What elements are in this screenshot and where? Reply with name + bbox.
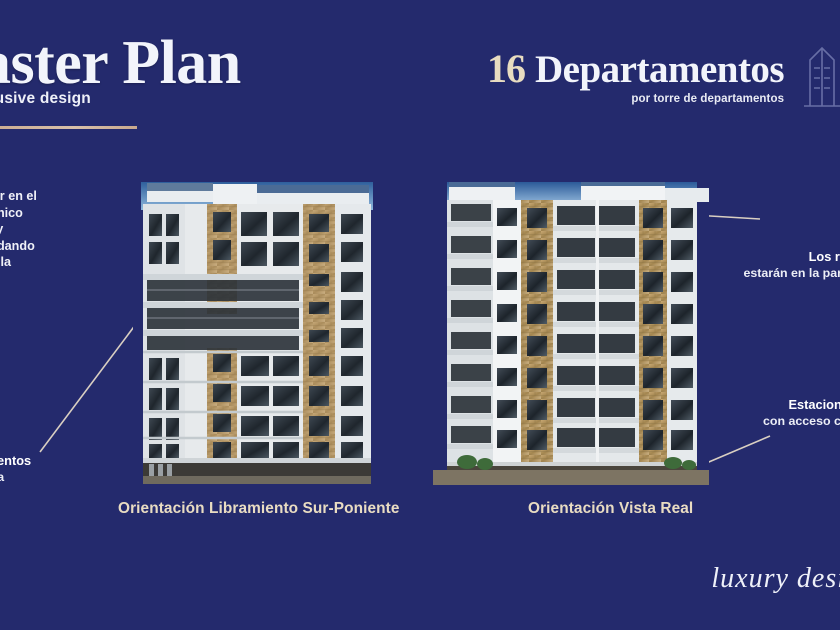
page-subtitle: Exclusive design: [0, 90, 91, 108]
callout-bl-text: con terraza: [0, 469, 31, 486]
callout-br-text: con acceso controlado: [763, 413, 840, 430]
left-copy-line-1: Se puede observar en el: [0, 188, 122, 205]
title-divider: [0, 126, 137, 129]
slide-canvas: Master Plan Exclusive design 16 Departam…: [0, 0, 840, 630]
callout-tr-title: Los roof garden: [743, 248, 840, 265]
left-copy-line-4: cada torre acomodando: [0, 238, 122, 255]
callout-parking: Estacionamientos con acceso controlado: [763, 396, 840, 430]
unit-count-subtitle: por torre de departamentos: [487, 93, 784, 105]
page-title: Master Plan: [0, 28, 241, 99]
left-copy-line-5: de una forma que la: [0, 254, 122, 271]
tower-left-caption: Orientación Libramiento Sur-Poniente: [118, 500, 400, 518]
tower-right-caption: Orientación Vista Real: [528, 500, 693, 518]
unit-count-block: 16 Departamentos por torre de departamen…: [487, 45, 784, 105]
left-copy-line-6: hace dinámica y: [0, 271, 122, 288]
brand-logo-icon: [800, 36, 840, 110]
tower-render-right: [433, 182, 709, 485]
left-copy-line-3: un sentido único y: [0, 221, 122, 238]
callout-tr-text: estarán en la parte superior: [743, 265, 840, 282]
footer-script-text: luxury design: [711, 563, 840, 595]
callout-terrace-apartments: Departamentos con terraza: [0, 452, 31, 486]
left-description-text: Se puede observar en el diseño arquitect…: [0, 188, 122, 288]
callout-roof-garden: Los roof garden estarán en la parte supe…: [743, 248, 840, 282]
callout-bl-title: Departamentos: [0, 452, 31, 469]
unit-count-number: 16: [487, 45, 525, 92]
left-copy-line-2: diseño arquitectónico: [0, 205, 122, 222]
tower-render-left: [133, 182, 381, 484]
unit-count-word: Departamentos: [535, 47, 784, 92]
callout-br-title: Estacionamientos: [763, 396, 840, 413]
